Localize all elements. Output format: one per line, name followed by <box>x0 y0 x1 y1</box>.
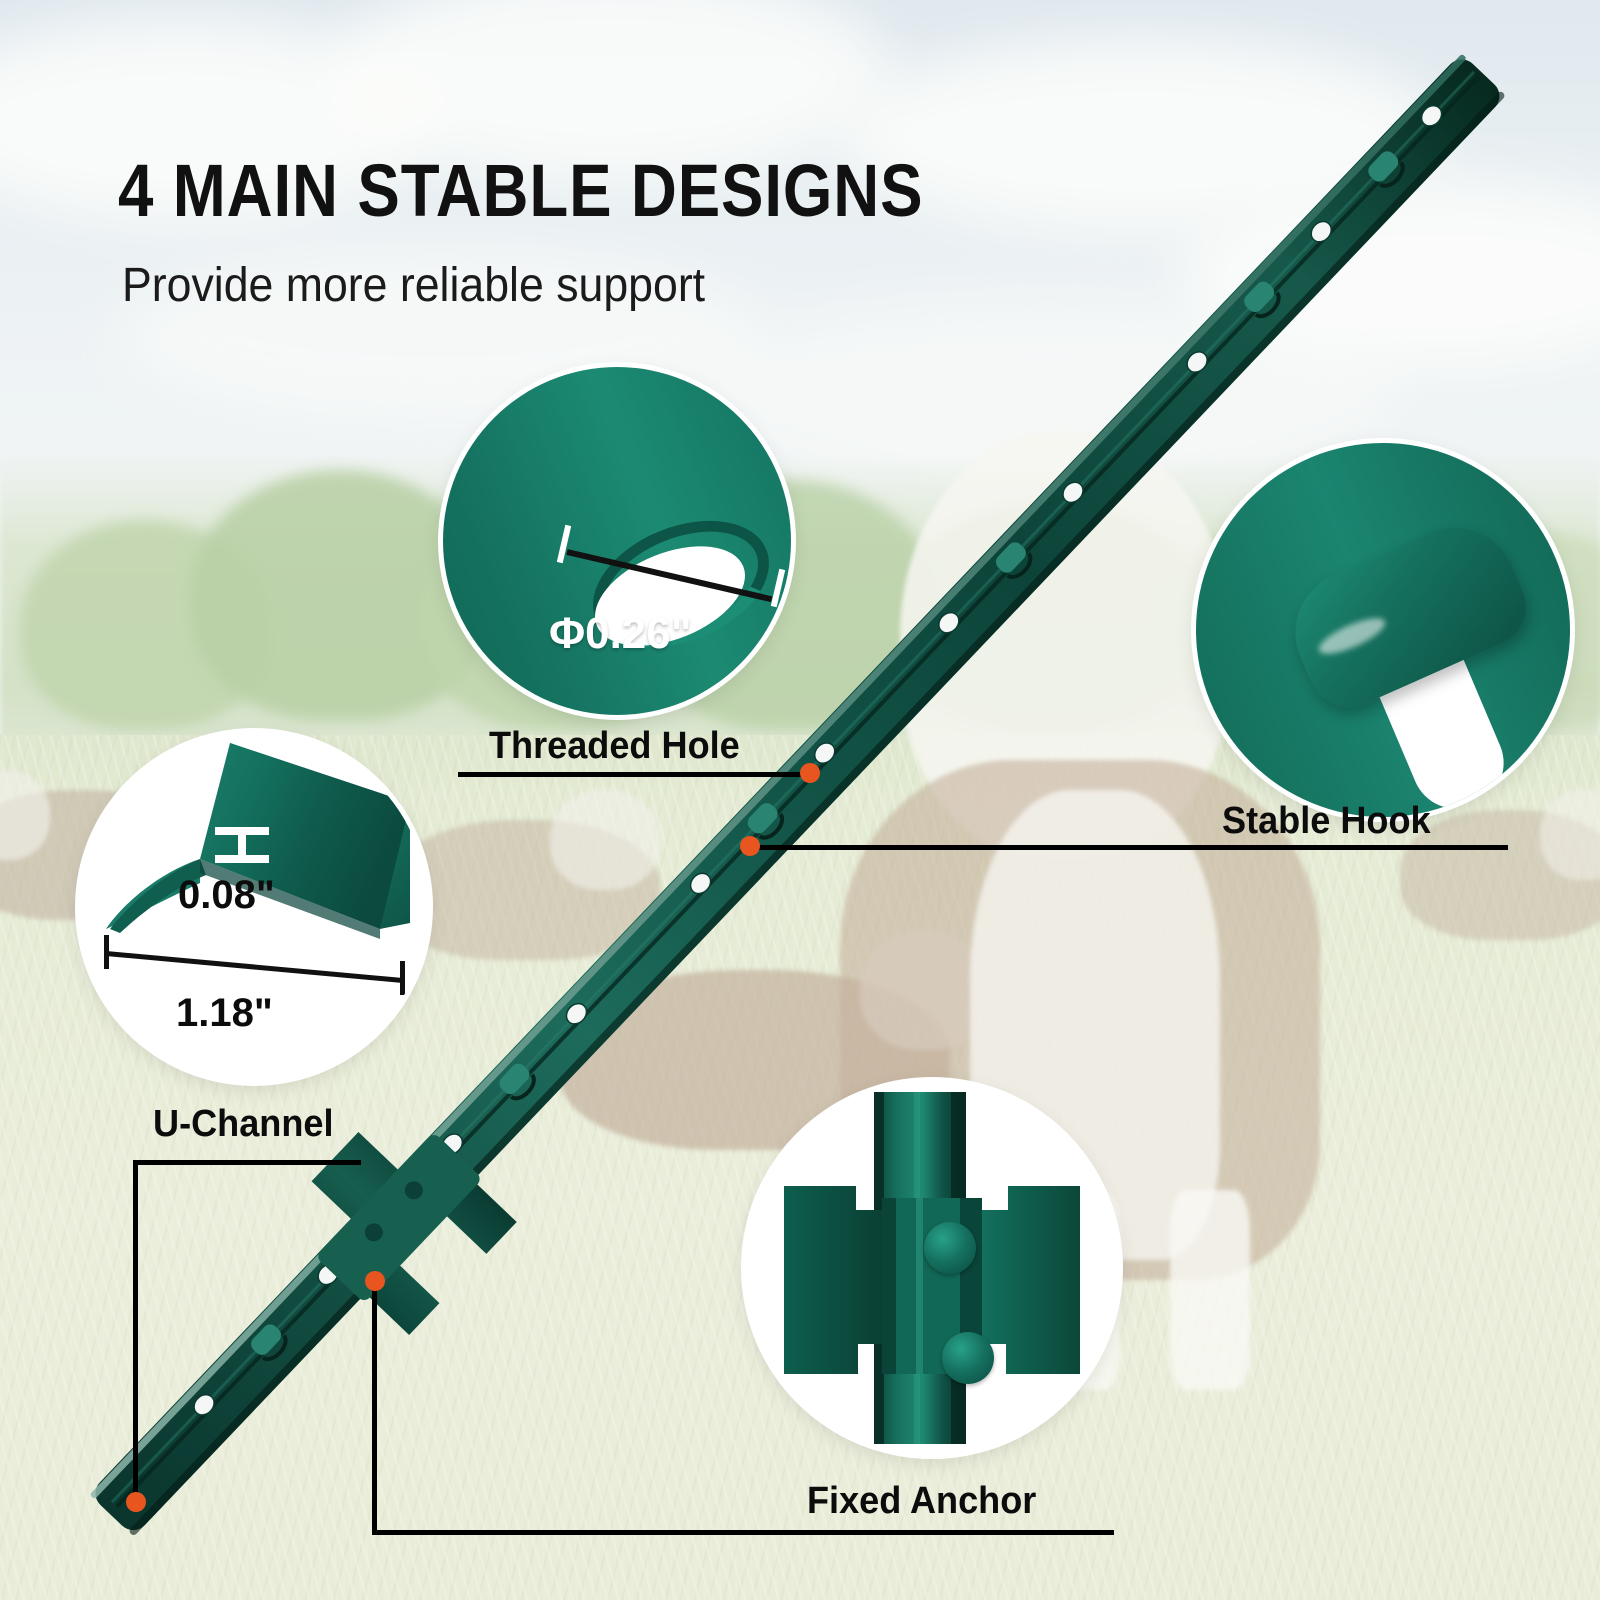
callout-label-fixed-anchor: Fixed Anchor <box>807 1480 1036 1523</box>
leader-line-u-channel-horizontal <box>133 1160 361 1165</box>
leader-line-fixed-anchor-vertical <box>372 1280 377 1535</box>
leader-line-threaded-hole <box>458 772 810 777</box>
threaded-hole-dimension-label: Φ0.26" <box>549 609 692 659</box>
callout-fixed-anchor[interactable] <box>746 1082 1118 1454</box>
callout-u-channel[interactable]: 0.08" 1.18" <box>80 733 428 1081</box>
fixed-anchor-closeup <box>746 1082 1118 1454</box>
callout-label-u-channel: U-Channel <box>153 1103 334 1146</box>
width-dimension-tick-right <box>400 961 405 995</box>
callout-stable-hook[interactable] <box>1196 443 1570 817</box>
anchor-rivet-bottom <box>942 1332 994 1384</box>
callout-label-stable-hook: Stable Hook <box>1222 800 1431 843</box>
leader-line-u-channel-vertical <box>133 1160 138 1500</box>
u-channel-width-label: 1.18" <box>176 991 273 1036</box>
connector-dot-threaded-hole <box>800 763 820 783</box>
leader-line-fixed-anchor-horizontal <box>372 1530 1114 1535</box>
infographic-canvas: 4 MAIN STABLE DESIGNS Provide more relia… <box>0 0 1600 1600</box>
width-dimension-tick-left <box>104 935 109 969</box>
connector-dot-u-channel <box>126 1492 146 1512</box>
connector-dot-fixed-anchor <box>365 1271 385 1291</box>
thickness-marker-bottom <box>215 855 269 863</box>
callout-threaded-hole[interactable]: Φ0.26" <box>443 367 791 715</box>
callout-label-threaded-hole: Threaded Hole <box>489 725 740 768</box>
connector-dot-stable-hook <box>740 836 760 856</box>
anchor-rivet-top <box>924 1222 976 1274</box>
leader-line-stable-hook <box>748 845 1508 850</box>
u-channel-thickness-label: 0.08" <box>178 873 275 918</box>
